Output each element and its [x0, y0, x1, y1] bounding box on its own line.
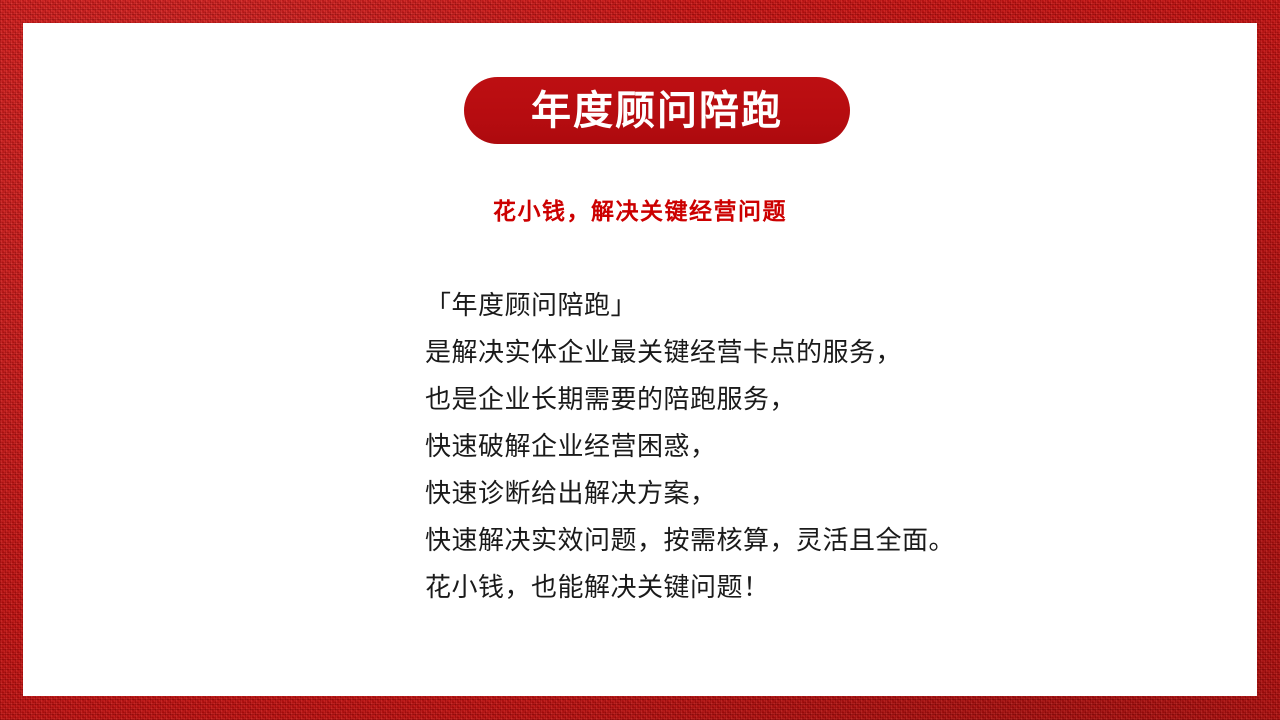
body-line: 快速破解企业经营困惑， — [425, 423, 1215, 470]
body-line: 「年度顾问陪跑」 — [425, 282, 1215, 329]
body-paragraph: 「年度顾问陪跑」 是解决实体企业最关键经营卡点的服务， 也是企业长期需要的陪跑服… — [425, 282, 1215, 611]
body-line: 快速解决实效问题，按需核算，灵活且全面。 — [425, 517, 1215, 564]
body-line: 也是企业长期需要的陪跑服务， — [425, 376, 1215, 423]
body-line: 花小钱，也能解决关键问题！ — [425, 564, 1215, 611]
slide-white-canvas: 年度顾问陪跑 花小钱，解决关键经营问题 「年度顾问陪跑」 是解决实体企业最关键经… — [23, 23, 1257, 696]
body-line: 是解决实体企业最关键经营卡点的服务， — [425, 329, 1215, 376]
title-badge: 年度顾问陪跑 — [464, 77, 850, 144]
body-line: 快速诊断给出解决方案， — [425, 470, 1215, 517]
subtitle-text: 花小钱，解决关键经营问题 — [23, 194, 1257, 228]
slide-red-border-frame: 年度顾问陪跑 花小钱，解决关键经营问题 「年度顾问陪跑」 是解决实体企业最关键经… — [0, 0, 1280, 720]
title-badge-label: 年度顾问陪跑 — [531, 91, 783, 131]
